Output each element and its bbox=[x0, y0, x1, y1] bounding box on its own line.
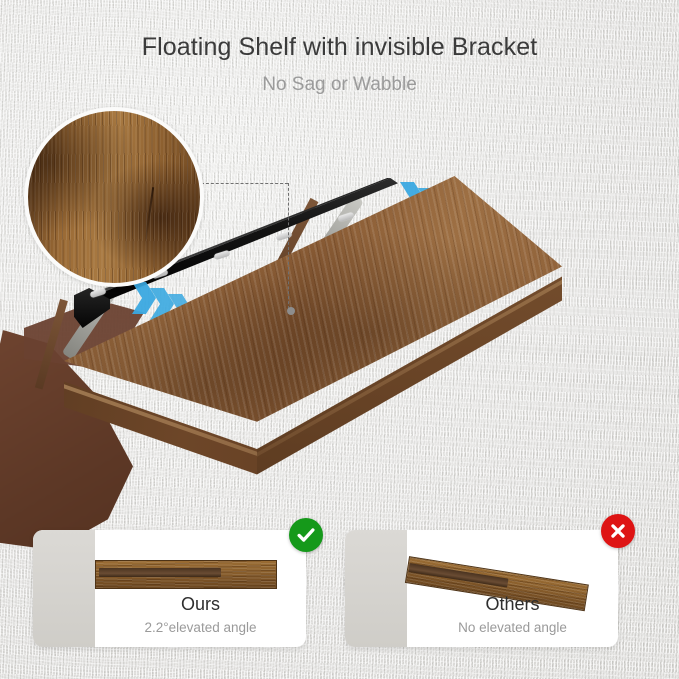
wall-block-others bbox=[345, 530, 407, 647]
callout-anchor-dot bbox=[287, 307, 295, 315]
cross-icon bbox=[601, 514, 635, 548]
check-icon bbox=[289, 518, 323, 552]
wood-grain-magnifier bbox=[24, 107, 204, 287]
cross-icon-glyph bbox=[607, 520, 629, 542]
comparison-card-ours[interactable]: Ours 2.2°elevated angle bbox=[33, 530, 306, 647]
wall-block-ours bbox=[33, 530, 95, 647]
comparison-label-ours: Ours bbox=[95, 594, 306, 615]
comparison-sublabel-ours: 2.2°elevated angle bbox=[95, 620, 306, 635]
comparison-sublabel-others: No elevated angle bbox=[407, 620, 618, 635]
comparison-card-others[interactable]: Others No elevated angle bbox=[345, 530, 618, 647]
comparison-label-others: Others bbox=[407, 594, 618, 615]
check-icon-glyph bbox=[295, 524, 317, 546]
bracket-channel-ours bbox=[99, 568, 221, 577]
callout-line-vertical bbox=[288, 183, 289, 309]
callout-line-horizontal bbox=[196, 183, 288, 184]
wood-crack-detail bbox=[144, 187, 154, 247]
